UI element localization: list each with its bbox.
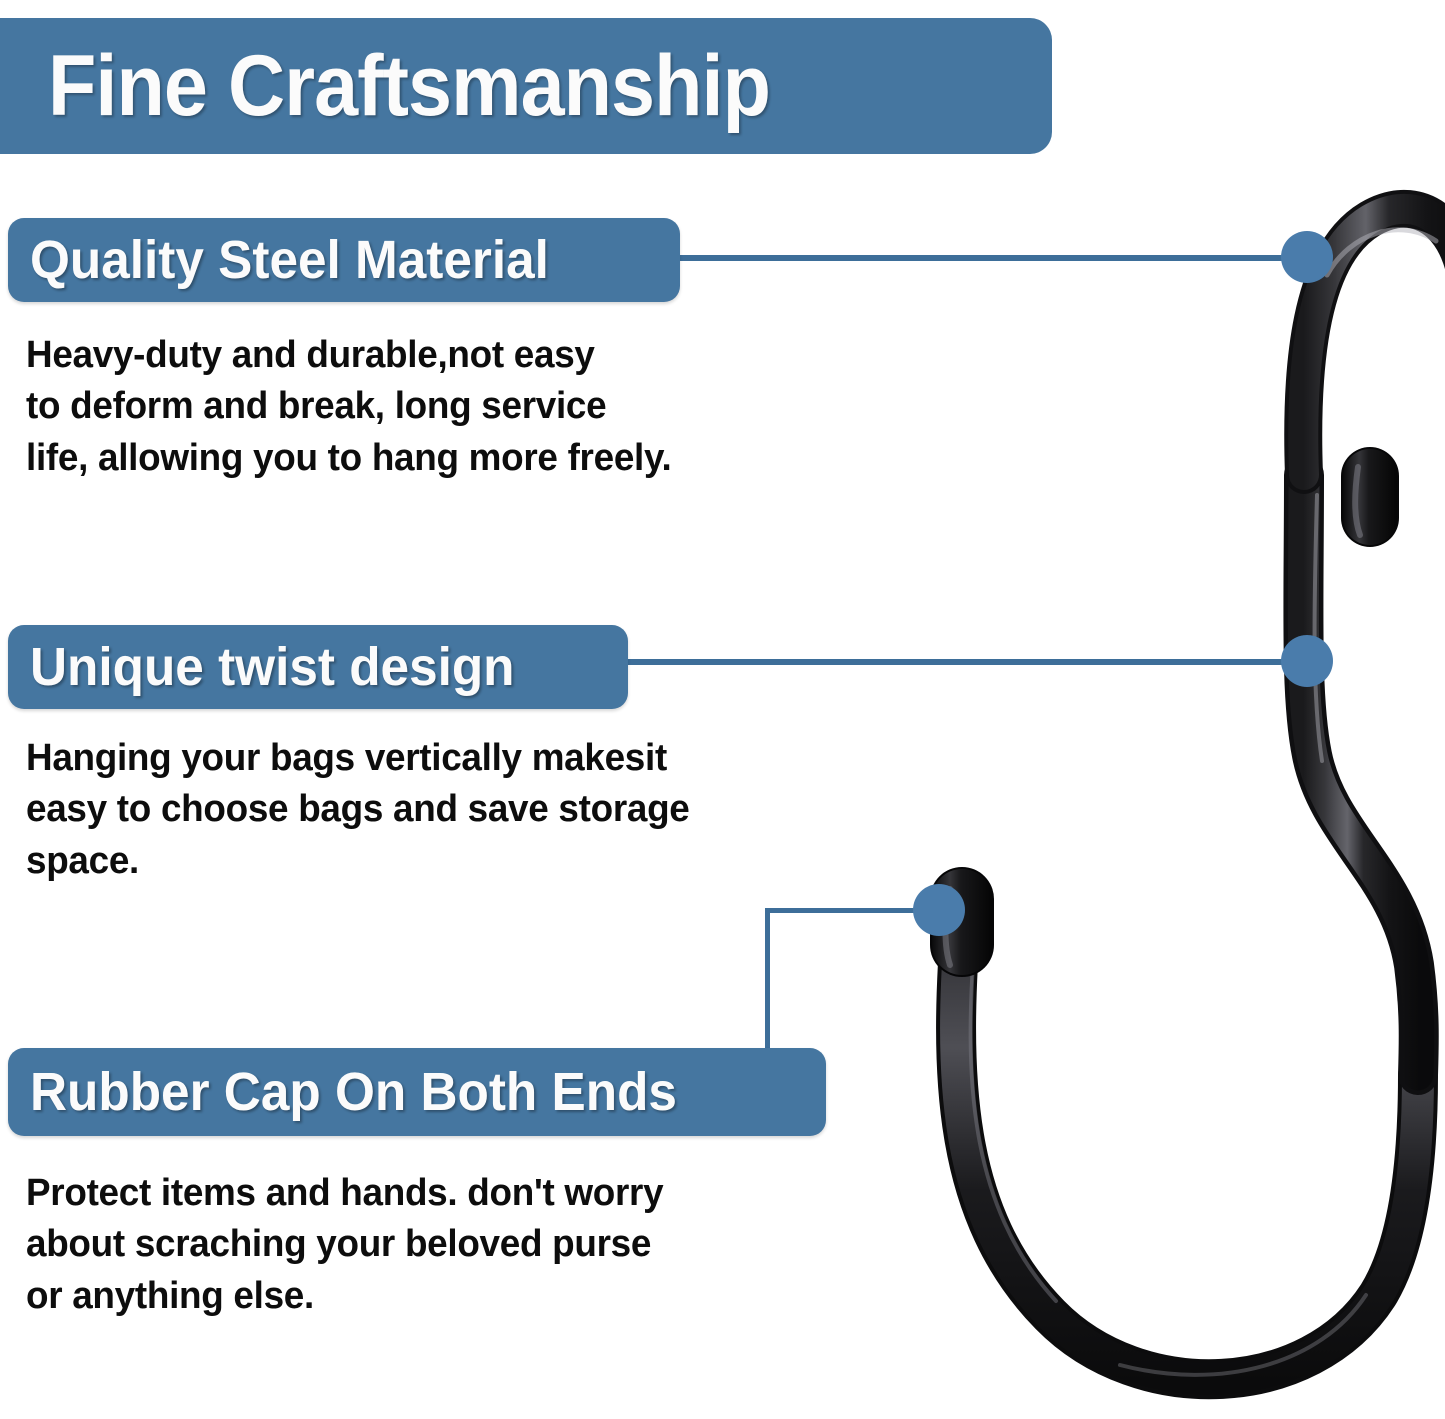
feature-badge-quality-steel-material: Quality Steel Material	[8, 218, 680, 302]
connector-line-twist-design	[624, 659, 1310, 665]
hook-steel-body	[956, 209, 1445, 1379]
feature-description-unique-twist-design: Hanging your bags vertically makesit eas…	[26, 733, 792, 887]
feature-badge-unique-twist-design: Unique twist design	[8, 625, 628, 709]
feature-description-rubber-cap-on-both-ends: Protect items and hands. don't worry abo…	[26, 1168, 792, 1322]
rubber-cap-upper	[1341, 447, 1399, 547]
connector-dot-twist-design	[1281, 635, 1333, 687]
feature-badge-rubber-cap-on-both-ends: Rubber Cap On Both Ends	[8, 1048, 826, 1136]
product-hook-image	[880, 175, 1445, 1419]
title-banner: Fine Craftsmanship	[0, 18, 1052, 154]
connector-line-quality-steel	[676, 255, 1310, 261]
connector-dot-quality-steel	[1281, 231, 1333, 283]
feature-description-quality-steel-material: Heavy-duty and durable,not easy to defor…	[26, 330, 792, 484]
connector-elbow-vertical-rubber-cap	[765, 908, 770, 1056]
feature-label: Quality Steel Material	[30, 233, 549, 287]
feature-label: Unique twist design	[30, 640, 515, 694]
page-title: Fine Craftsmanship	[48, 43, 770, 129]
feature-label: Rubber Cap On Both Ends	[30, 1065, 677, 1119]
connector-dot-rubber-cap	[913, 884, 965, 936]
